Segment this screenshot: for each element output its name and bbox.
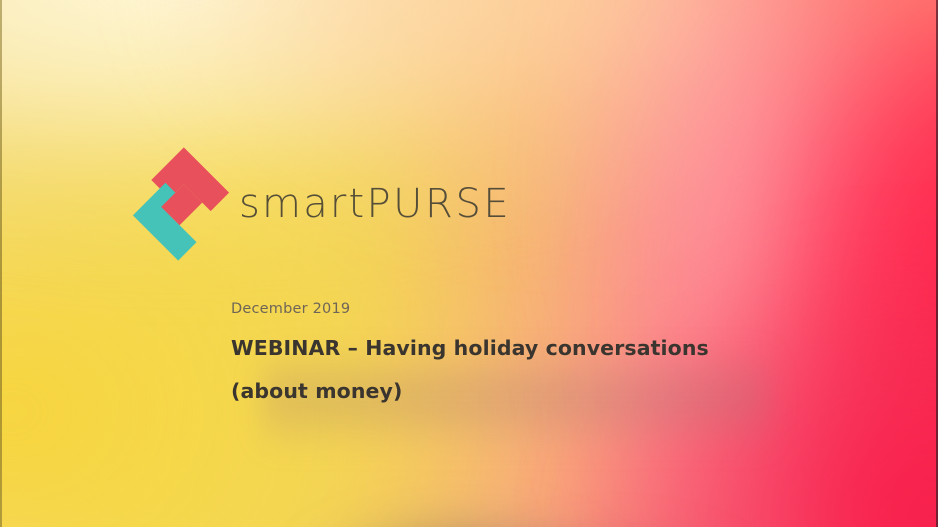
slide-date: December 2019 xyxy=(231,300,709,320)
slide-left-edge-line xyxy=(0,0,2,527)
title-slide: smartPURSE December 2019 WEBINAR – Havin… xyxy=(0,0,938,527)
wordmark-uppercase: PURSE xyxy=(366,181,511,227)
brand-wordmark: smartPURSE xyxy=(239,184,511,224)
smartpurse-interlocking-s-logo-icon xyxy=(131,142,231,266)
slide-text-block: December 2019 WEBINAR – Having holiday c… xyxy=(231,300,709,403)
wordmark-lowercase: smart xyxy=(239,181,366,227)
slide-title-line-1: WEBINAR – Having holiday conversations xyxy=(231,337,709,360)
slide-title-line-2: (about money) xyxy=(231,380,709,403)
brand-logo-block: smartPURSE xyxy=(131,142,511,266)
